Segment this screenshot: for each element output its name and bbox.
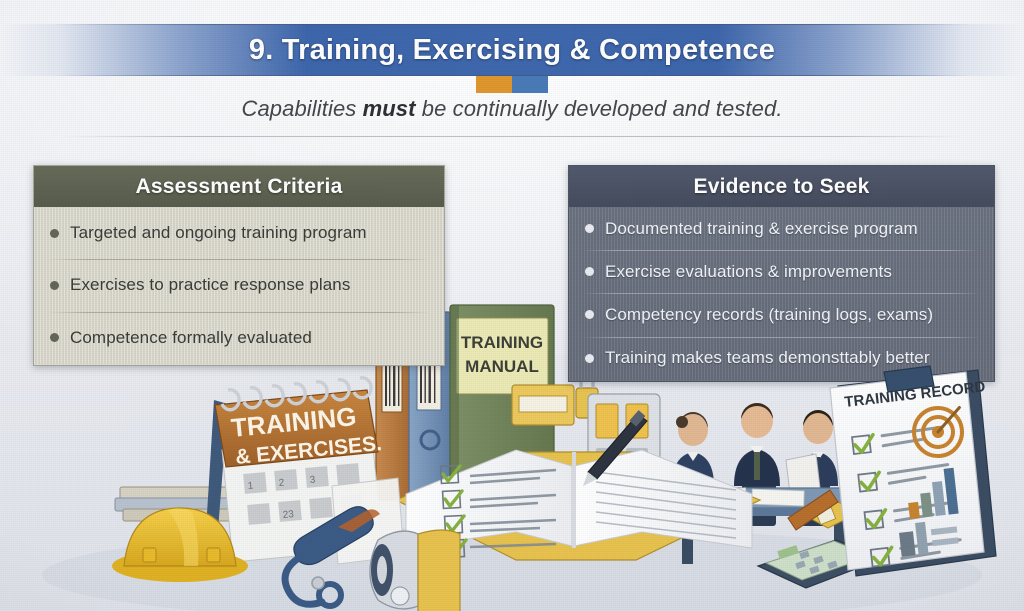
hard-hat <box>112 508 248 582</box>
slide: 9. Training, Exercising & Competence Cap… <box>0 0 1024 611</box>
megaphone <box>370 530 460 611</box>
svg-text:23: 23 <box>282 509 294 521</box>
clipboard-training-record: TRAINING RECORD <box>830 366 996 576</box>
illustration-front: 1 2 3 23 TRAINING & EXERCISES. <box>0 0 1024 611</box>
